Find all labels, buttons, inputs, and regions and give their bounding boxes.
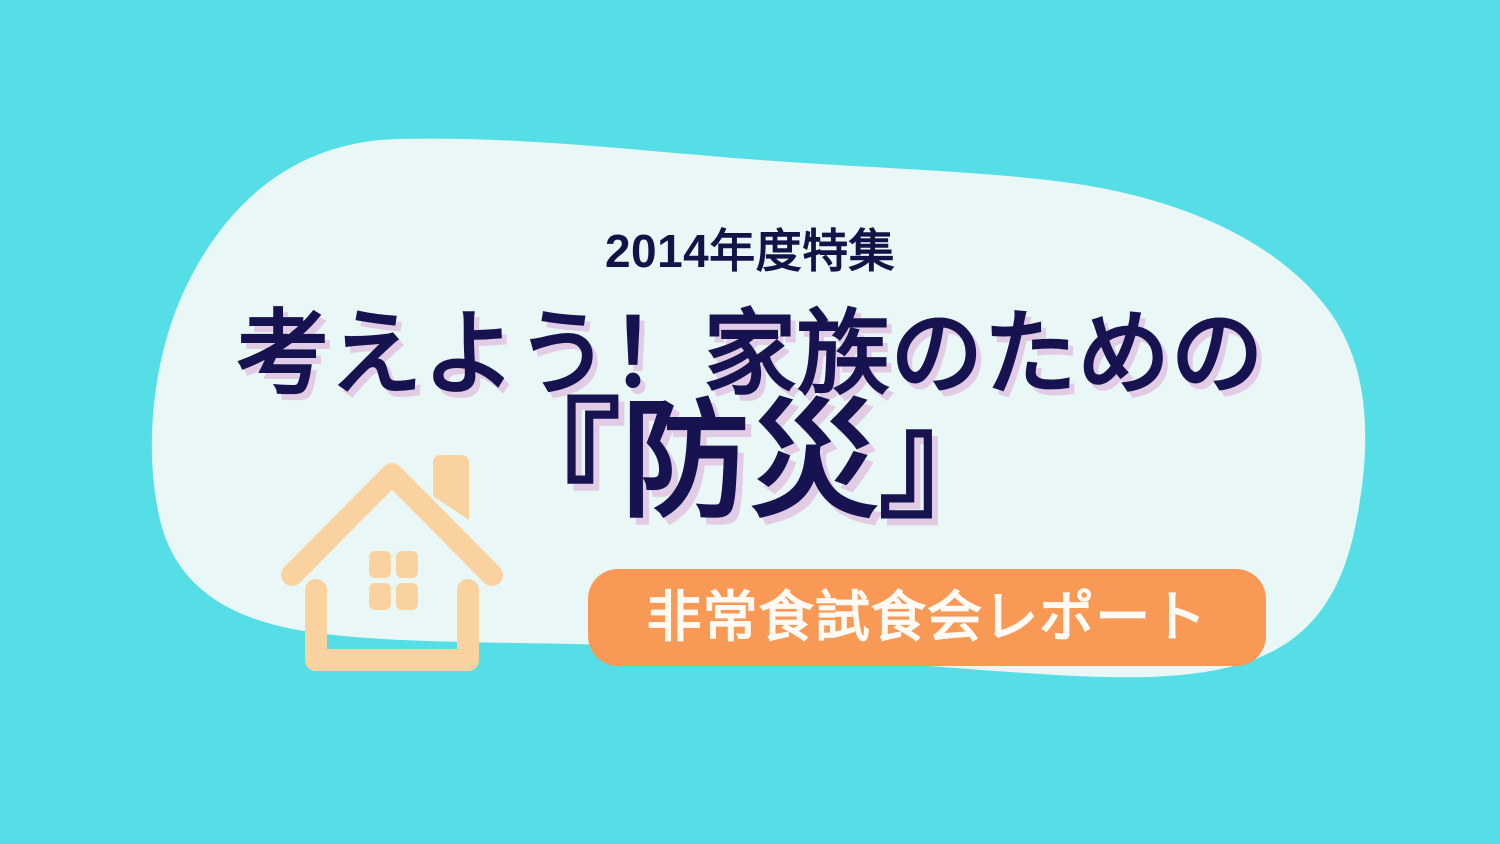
report-badge[interactable]: 非常食試食会レポート	[588, 569, 1266, 666]
banner-content: 2014年度特集 考えよう！家族のための 『防災』 非常食試食会レポート	[0, 0, 1500, 844]
page-title-line-2: 『防災』	[0, 398, 1500, 526]
eyebrow-text: 2014年度特集	[0, 226, 1500, 277]
report-badge-label: 非常食試食会レポート	[646, 590, 1207, 645]
page-title-line-1: 考えよう！家族のための	[0, 308, 1500, 401]
banner-canvas: 2014年度特集 考えよう！家族のための 『防災』 非常食試食会レポート	[0, 0, 1500, 844]
